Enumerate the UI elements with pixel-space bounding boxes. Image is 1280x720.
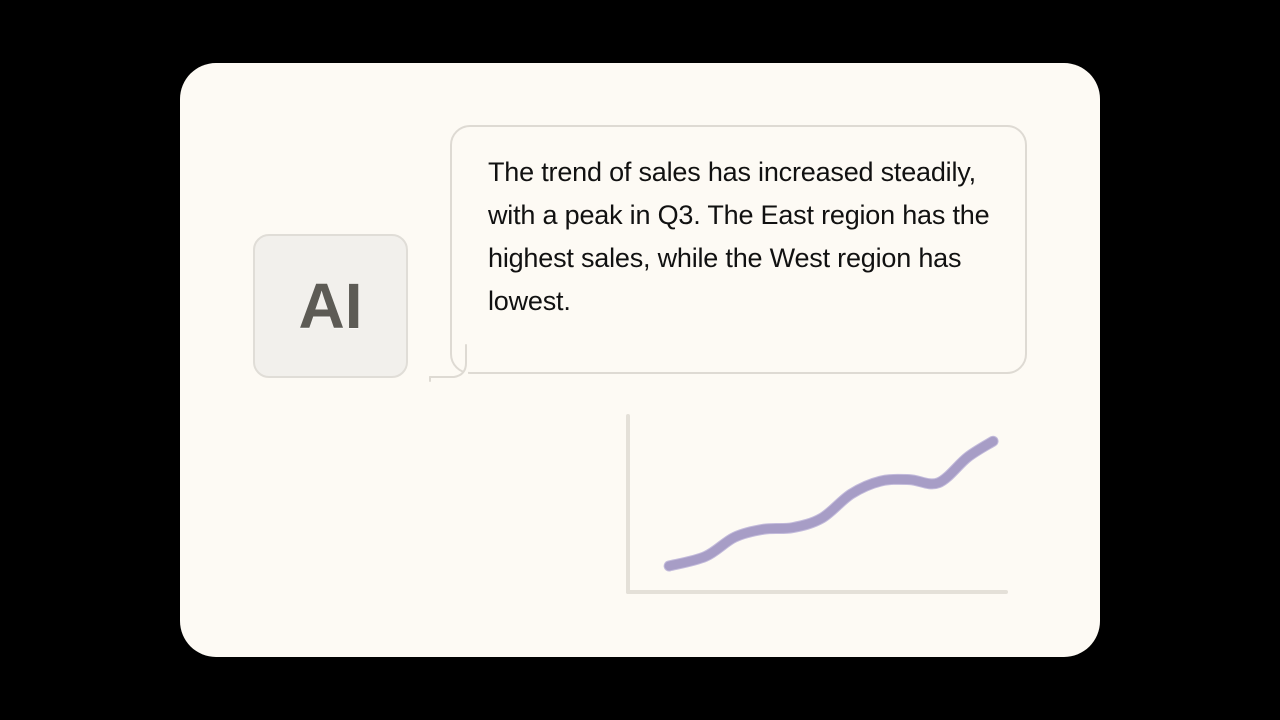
ai-insight-card: AI The trend of sales has increased stea… — [180, 63, 1100, 657]
ai-message-bubble: The trend of sales has increased steadil… — [450, 125, 1027, 374]
ai-avatar-badge[interactable]: AI — [253, 234, 408, 378]
ai-message-text: The trend of sales has increased steadil… — [488, 151, 995, 323]
ai-badge-label: AI — [299, 274, 363, 338]
sales-trend-chart — [618, 408, 1018, 608]
chart-trend-line — [669, 441, 993, 566]
screen-root: AI The trend of sales has increased stea… — [0, 0, 1280, 720]
